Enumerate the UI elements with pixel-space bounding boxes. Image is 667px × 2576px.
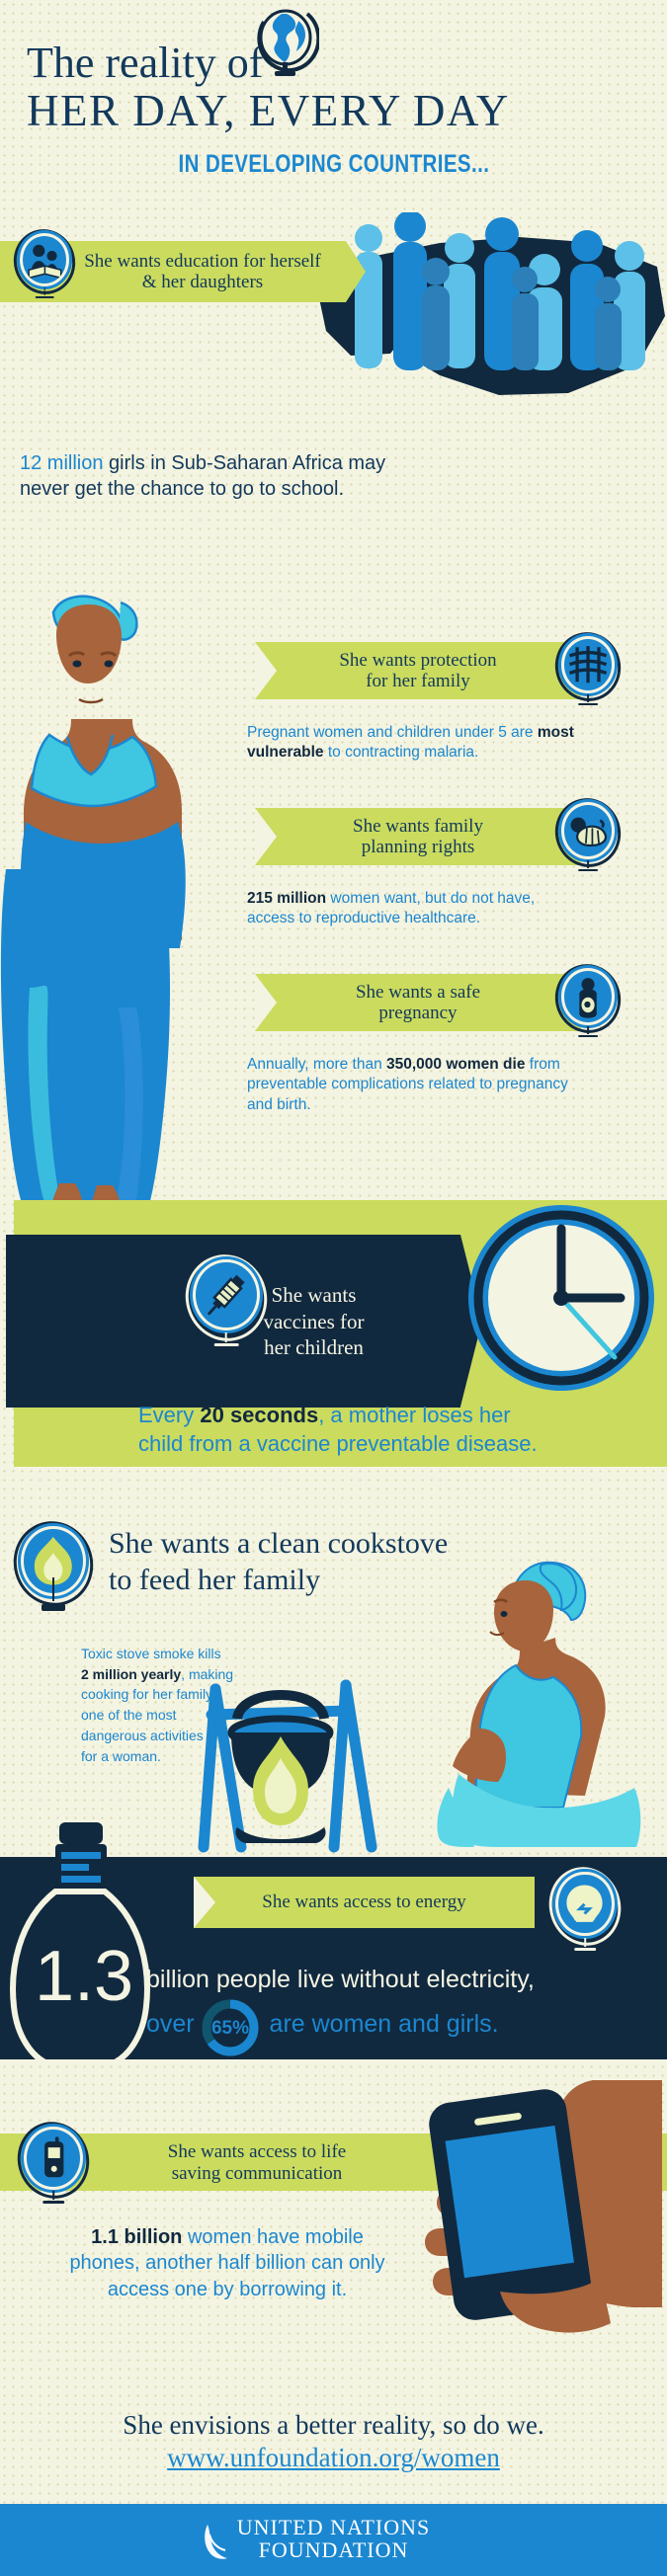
education-stat: 12 million girls in Sub-Saharan Africa m… [20, 450, 435, 503]
energy-banner-label: She wants access to energy [262, 1892, 465, 1912]
logo-line-1: UNITED NATIONS [0, 2517, 667, 2539]
footer-url[interactable]: www.unfoundation.org/women [0, 2443, 667, 2473]
page-title-line-1: The reality of [27, 38, 263, 88]
pregnant-woman-globe-icon [555, 964, 621, 1033]
woman-dress-illustration [0, 869, 183, 1215]
vaccine-stat: Every 20 seconds, a mother loses her chi… [138, 1401, 662, 1458]
clock-icon [464, 1201, 658, 1395]
safe-pregnancy-banner: She wants a safe pregnancy [255, 974, 581, 1031]
vaccine-banner-label: She wants vaccines for her children [263, 1282, 364, 1362]
hand-holding-smartphone [415, 2072, 662, 2398]
header: The reality of HER DAY, EVERY DAY IN DEV… [0, 0, 667, 193]
logo-line-2: FOUNDATION [0, 2539, 667, 2562]
donut-label: 65% [211, 2018, 249, 2039]
subtitle: IN DEVELOPING COUNTRIES... [0, 150, 667, 179]
family-planning-banner-label: She wants family planning rights [353, 816, 483, 858]
energy-line-1: billion people live without electricity, [146, 1966, 640, 1994]
cooking-fire-illustration [198, 1630, 415, 1857]
energy-big-number: 1.3 [20, 1936, 148, 2017]
baby-globe-icon [555, 798, 621, 867]
mobile-phone-globe-icon [18, 2122, 89, 2199]
crowd-illustration [341, 212, 667, 370]
communication-banner-label: She wants access to life saving communic… [109, 2135, 405, 2191]
footer: She envisions a better reality, so do we… [0, 2410, 667, 2499]
protection-banner: She wants protection for her family [255, 642, 581, 699]
donut-chart-65-percent: 65% [200, 1997, 261, 2058]
page-title-line-2: HER DAY, EVERY DAY [27, 85, 510, 136]
safe-pregnancy-banner-label: She wants a safe pregnancy [356, 982, 480, 1024]
globe-icon [252, 8, 319, 79]
cooking-woman-illustration [425, 1541, 667, 1847]
flame-globe-icon [14, 1521, 93, 1606]
lightbulb-globe-icon [549, 1867, 621, 1946]
un-foundation-logo: UNITED NATIONS FOUNDATION [0, 2517, 667, 2562]
family-planning-banner: She wants family planning rights [255, 808, 581, 865]
energy-banner: She wants access to energy [194, 1877, 535, 1928]
protection-banner-label: She wants protection for her family [339, 650, 496, 692]
communication-stat: 1.1 billion women have mobile phones, an… [10, 2224, 445, 2302]
un-laurel-icon [198, 2521, 237, 2560]
family-planning-stat: 215 million women want, but do not have,… [247, 889, 642, 929]
mosquito-net-globe-icon [555, 632, 621, 701]
safe-pregnancy-stat: Annually, more than 350,000 women die fr… [247, 1055, 642, 1115]
syringe-globe-icon [186, 1254, 267, 1341]
infographic-page: The reality of HER DAY, EVERY DAY IN DEV… [0, 0, 667, 2576]
footer-tagline: She envisions a better reality, so do we… [0, 2410, 667, 2441]
protection-stat: Pregnant women and children under 5 are … [247, 723, 642, 764]
reading-family-globe-icon [14, 229, 75, 294]
